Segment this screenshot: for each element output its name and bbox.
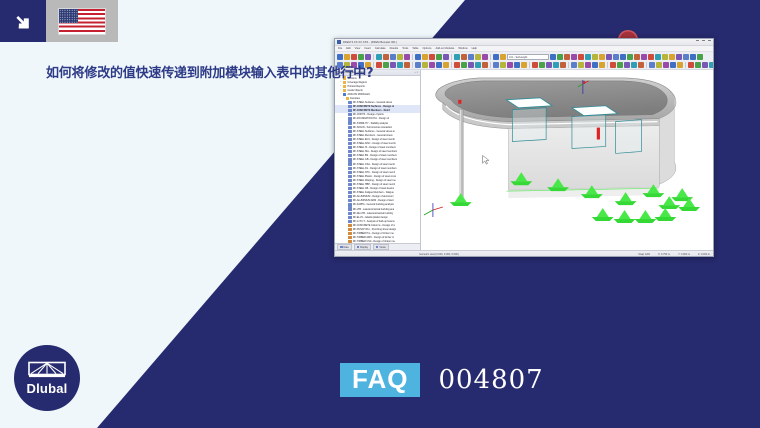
tree-item-label: RF-STEEL Fatigue Members - Fatigue bbox=[353, 191, 394, 194]
tree-twisty-icon[interactable] bbox=[345, 150, 348, 153]
tree-twisty-icon[interactable] bbox=[345, 224, 348, 227]
print-icon[interactable] bbox=[358, 54, 364, 60]
support-icon[interactable] bbox=[475, 62, 481, 68]
node-icon[interactable] bbox=[670, 62, 676, 68]
status-item: Snap CAD bbox=[638, 253, 650, 256]
menu-item-insert[interactable]: Insert bbox=[364, 47, 371, 50]
wireframe-icon[interactable] bbox=[599, 62, 605, 68]
tree-item[interactable]: RF-TIMBER CSA - Design of timber me bbox=[335, 240, 420, 243]
zoom-out-icon[interactable] bbox=[617, 62, 623, 68]
select-icon[interactable] bbox=[649, 62, 655, 68]
rotate-icon[interactable] bbox=[461, 54, 467, 60]
pan-icon[interactable] bbox=[631, 62, 637, 68]
tree-item-label: RF-CONCRETE Surfaces - Design of bbox=[353, 105, 394, 108]
dlubal-wordmark: Dlubal bbox=[27, 381, 68, 396]
open-icon[interactable] bbox=[521, 62, 527, 68]
copy-icon[interactable] bbox=[676, 54, 682, 60]
tree-item-icon bbox=[343, 85, 346, 88]
tree-twisty-icon[interactable] bbox=[345, 220, 348, 223]
status-item: Y: 3.900 m bbox=[678, 253, 690, 256]
toolbar-separator bbox=[451, 62, 452, 68]
tree-item-icon bbox=[348, 207, 351, 210]
tree-twisty-icon[interactable] bbox=[345, 155, 348, 158]
menu-item-help[interactable]: Help bbox=[472, 47, 477, 50]
copy-icon[interactable] bbox=[560, 62, 566, 68]
tree-item-label: RF-STEEL GB - Design of steel members bbox=[353, 158, 397, 161]
copy-icon[interactable] bbox=[571, 54, 577, 60]
tree-twisty-icon[interactable] bbox=[345, 208, 348, 211]
app-icon bbox=[337, 40, 341, 44]
status-left: Isometric view [0.000, 0.000, 0.000] bbox=[335, 253, 458, 256]
tree-item-label: RF-STEEL Warping - Design of steel me bbox=[353, 179, 396, 182]
tree-item-label: RF-STEEL Surfaces - General stress bbox=[353, 101, 392, 104]
tree-item-label: RF-STEEL CB - Design of steel beams bbox=[353, 187, 394, 190]
navigator-tab-display[interactable]: Display bbox=[354, 244, 371, 250]
surface-icon[interactable] bbox=[695, 62, 701, 68]
new-icon[interactable] bbox=[514, 62, 520, 68]
tree-item-icon bbox=[348, 224, 351, 227]
rotate-icon[interactable] bbox=[606, 54, 612, 60]
save-icon[interactable] bbox=[532, 62, 538, 68]
results-icon[interactable] bbox=[648, 54, 654, 60]
results-icon[interactable] bbox=[500, 62, 506, 68]
tree-twisty-icon[interactable] bbox=[345, 126, 348, 129]
tree-item-icon bbox=[343, 93, 346, 96]
tree-item-label: RF-ALUMINIUM - Design of aluminum bbox=[353, 195, 394, 198]
toolbar-separator bbox=[412, 62, 413, 68]
cut-icon[interactable] bbox=[553, 62, 559, 68]
wireframe-icon[interactable] bbox=[422, 54, 428, 60]
tree-twisty-icon[interactable]: + bbox=[340, 89, 343, 92]
tree-item-icon bbox=[348, 179, 351, 182]
views-tab-icon bbox=[376, 246, 379, 249]
zoom-fit-icon[interactable] bbox=[624, 62, 630, 68]
toolbar-separator bbox=[646, 62, 647, 68]
solid-icon[interactable] bbox=[468, 62, 474, 68]
tree-item-label: RF-STEEL CSA - Design of steel memb bbox=[353, 163, 395, 166]
tree-item-icon bbox=[348, 117, 351, 120]
tree-item-icon bbox=[348, 216, 351, 219]
close-icon[interactable] bbox=[708, 40, 711, 41]
tree-item-icon bbox=[348, 191, 351, 194]
tree-item-icon bbox=[343, 81, 346, 84]
tree-item-icon bbox=[348, 150, 351, 153]
tree-twisty-icon[interactable] bbox=[345, 196, 348, 199]
tree-twisty-icon[interactable] bbox=[345, 146, 348, 149]
window-body: Project Navigator - Data □ × +Sections+C… bbox=[335, 70, 713, 250]
new-icon[interactable] bbox=[655, 54, 661, 60]
tree-item-label: RF-STEEL BS - Design of steel members bbox=[353, 154, 397, 157]
tree-item-icon bbox=[348, 101, 351, 104]
data-tab-icon bbox=[340, 246, 343, 249]
redo-icon[interactable] bbox=[585, 62, 591, 68]
toolbar-separator bbox=[490, 62, 491, 68]
tree-twisty-icon[interactable] bbox=[345, 191, 348, 194]
menu-item-window[interactable]: Window bbox=[458, 47, 467, 50]
status-item: X: 0.750 m bbox=[658, 253, 670, 256]
member-icon[interactable] bbox=[627, 54, 633, 60]
minimize-icon[interactable] bbox=[696, 40, 699, 41]
tree-item-icon bbox=[348, 113, 351, 116]
select-icon[interactable] bbox=[415, 62, 421, 68]
tree-item-label: RF-SOILIN - Soil structure interaction bbox=[353, 126, 393, 129]
menu-item-results[interactable]: Results bbox=[390, 47, 399, 50]
faq-badge: FAQ bbox=[340, 363, 420, 397]
faq-identifier: FAQ 004807 bbox=[340, 363, 544, 397]
tree-item-label: RF-C-TO-T - Analysis of built-up beams bbox=[353, 220, 395, 223]
zoom-in-icon[interactable] bbox=[429, 54, 435, 60]
tree-twisty-icon[interactable] bbox=[345, 183, 348, 186]
tree-item-label: RF-LTB - Lateral-torsional buckling ana bbox=[353, 208, 395, 211]
pan-icon[interactable] bbox=[454, 54, 460, 60]
faq-number: 004807 bbox=[438, 365, 543, 395]
tree-item-icon bbox=[348, 199, 351, 202]
tree-twisty-icon[interactable] bbox=[345, 204, 348, 207]
model-viewport[interactable] bbox=[421, 70, 713, 250]
tree-twisty-icon[interactable] bbox=[345, 122, 348, 125]
load-case-combo[interactable]: LC1 - Self-weight bbox=[507, 54, 549, 60]
tree-item-label: RF-TIMBER CSA - Design of timber me bbox=[353, 240, 395, 243]
line-icon[interactable] bbox=[677, 62, 683, 68]
load-icon[interactable] bbox=[641, 54, 647, 60]
select-icon[interactable] bbox=[468, 54, 474, 60]
tree-twisty-icon[interactable] bbox=[345, 200, 348, 203]
tree-twisty-icon[interactable] bbox=[345, 171, 348, 174]
tree-twisty-icon[interactable] bbox=[345, 159, 348, 162]
tree-item-label: RF-FOUNDATION Pro - Design of bbox=[353, 117, 389, 120]
navigator-header-buttons[interactable]: □ × bbox=[414, 70, 420, 76]
tree-item-label: ADD-ON MODULES bbox=[347, 93, 369, 96]
menu-item-view[interactable]: View bbox=[355, 47, 361, 50]
menu-item-tools[interactable]: Tools bbox=[402, 47, 408, 50]
tree-item-label: RF-STEEL SIA - Design of steel members bbox=[353, 150, 398, 153]
render-icon[interactable] bbox=[415, 54, 421, 60]
menu-item-options[interactable]: Options bbox=[423, 47, 432, 50]
toolbar-separator bbox=[412, 54, 413, 60]
tree-twisty-icon[interactable] bbox=[345, 212, 348, 215]
undo-icon[interactable] bbox=[397, 54, 403, 60]
flag-button[interactable] bbox=[46, 0, 118, 42]
bridge-truss-icon bbox=[28, 361, 66, 380]
tree-twisty-icon[interactable] bbox=[345, 187, 348, 190]
us-flag-icon bbox=[58, 8, 106, 35]
print-preview-icon[interactable] bbox=[546, 62, 552, 68]
print-preview-icon[interactable] bbox=[669, 54, 675, 60]
page-title: 如何将修改的值快速传递到附加模块输入表中的其他行中? bbox=[46, 66, 336, 83]
tree-item-icon bbox=[348, 158, 351, 161]
new-icon[interactable] bbox=[337, 54, 343, 60]
zoom-in-icon[interactable] bbox=[376, 62, 382, 68]
zoom-in-icon[interactable] bbox=[697, 54, 703, 60]
navigator-tab-label: Views bbox=[379, 245, 385, 250]
line-icon[interactable] bbox=[443, 62, 449, 68]
tree-item-icon bbox=[346, 97, 349, 100]
tree-item-label: RF-JOINTS - Design of joints bbox=[353, 113, 384, 116]
tree-twisty-icon[interactable]: + bbox=[340, 81, 343, 84]
surface-icon[interactable] bbox=[461, 62, 467, 68]
print-icon[interactable] bbox=[539, 62, 545, 68]
tree-item-label: RF-STEEL Surfaces - General stress an bbox=[353, 130, 396, 133]
tree-item-icon bbox=[348, 171, 351, 174]
tree-item-icon bbox=[348, 236, 351, 239]
dlubal-logo[interactable]: Dlubal bbox=[14, 345, 80, 411]
tree-item-icon bbox=[348, 183, 351, 186]
snap-icon[interactable] bbox=[429, 62, 435, 68]
tree-item-icon bbox=[348, 232, 351, 235]
printout-icon[interactable] bbox=[507, 62, 513, 68]
tree-item-label: RF-STABILITY - Stability analysis bbox=[353, 122, 389, 125]
tree-item-label: RF-ALUMINIUM ADM - Design of alum bbox=[353, 199, 395, 202]
tree-item-label: RF-CONCRETE Columns - Design of re bbox=[353, 224, 396, 227]
toolbar-separator bbox=[607, 62, 608, 68]
load-icon[interactable] bbox=[482, 62, 488, 68]
node-icon[interactable] bbox=[620, 54, 626, 60]
tree-twisty-icon[interactable] bbox=[345, 130, 348, 133]
tree-item-label: RF-STEEL IS - Design of steel members bbox=[353, 146, 396, 149]
menu-item-file[interactable]: File bbox=[338, 47, 342, 50]
navigator-tabs[interactable]: DataDisplayViews bbox=[335, 243, 420, 250]
tree-item-label: Printout Reports bbox=[347, 85, 364, 88]
display-tab-icon bbox=[357, 246, 360, 249]
zoom-fit-icon[interactable] bbox=[443, 54, 449, 60]
render-icon[interactable] bbox=[585, 54, 591, 60]
tree-item-label: Favorites bbox=[350, 97, 360, 100]
tree-item-label: RF-STEEL Plastic - Design of steel cross bbox=[353, 175, 396, 178]
tree-item-icon bbox=[348, 195, 351, 198]
tree-twisty-icon[interactable] bbox=[345, 101, 348, 104]
member-icon[interactable] bbox=[454, 62, 460, 68]
arrow-down-right-button[interactable] bbox=[0, 0, 46, 42]
toolbar-separator bbox=[490, 54, 491, 60]
toolbar-separator bbox=[568, 62, 569, 68]
grid-icon[interactable] bbox=[656, 62, 662, 68]
solid-icon[interactable] bbox=[634, 54, 640, 60]
print-preview-icon[interactable] bbox=[365, 54, 371, 60]
tree-item-label: RF-EL-PL - Elastic-plastic design bbox=[353, 216, 388, 219]
tree-item-icon bbox=[348, 240, 351, 243]
zoom-out-icon[interactable] bbox=[383, 62, 389, 68]
tree-item-icon bbox=[348, 187, 351, 190]
tree-item-icon bbox=[348, 220, 351, 223]
slide-canvas: 如何将修改的值快速传递到附加模块输入表中的其他行中? Dlubal FAQ 00… bbox=[0, 0, 760, 428]
tree-item-label: RF-STEEL EC3 - Design of steel memb bbox=[353, 138, 395, 141]
navigator-tab-data[interactable]: Data bbox=[337, 244, 352, 250]
grid-icon[interactable] bbox=[475, 54, 481, 60]
tree-item-icon bbox=[348, 212, 351, 215]
tree-item-icon bbox=[348, 167, 351, 170]
grid-icon[interactable] bbox=[613, 54, 619, 60]
toolbar-separator bbox=[529, 62, 530, 68]
rfem-application-window[interactable]: RFEM 5.XX.XX.XXX - [RFEM Beispiel 001] F… bbox=[334, 38, 714, 257]
tree-item-icon bbox=[348, 142, 351, 145]
tree-item-icon bbox=[348, 134, 351, 137]
redo-icon[interactable] bbox=[404, 54, 410, 60]
render-icon[interactable] bbox=[592, 62, 598, 68]
tree-twisty-icon[interactable] bbox=[345, 163, 348, 166]
copy-icon[interactable] bbox=[383, 54, 389, 60]
tree-item-label: RF-STEEL NTC - Design of steel memb bbox=[353, 171, 395, 174]
navigator-tree[interactable]: +Sections+Coverage Regions+Printout Repo… bbox=[335, 76, 420, 243]
line-icon[interactable] bbox=[500, 54, 506, 60]
tree-item-label: RF-STEEL HBP - Design of steel memb bbox=[353, 183, 395, 186]
toolbar-separator bbox=[373, 54, 374, 60]
tree-item-label: RF-STEEL AISC - Design of steel memb bbox=[353, 142, 396, 145]
tree-twisty-icon[interactable] bbox=[345, 105, 348, 108]
pan-icon[interactable] bbox=[397, 62, 403, 68]
tree-twisty-icon[interactable] bbox=[345, 142, 348, 145]
tree-item-label: RF-CONCRETE Members - Reinf. bbox=[353, 109, 391, 112]
tree-twisty-icon[interactable] bbox=[345, 114, 348, 117]
tree-item-label: RF-FE-LTB - Lateral-torsional buckling bbox=[353, 212, 394, 215]
tree-item-icon bbox=[348, 203, 351, 206]
tree-twisty-icon[interactable] bbox=[345, 118, 348, 121]
tree-item-icon bbox=[348, 105, 351, 108]
new-icon[interactable] bbox=[550, 54, 556, 60]
node-icon[interactable] bbox=[436, 62, 442, 68]
tree-item-icon bbox=[348, 175, 351, 178]
window-controls[interactable] bbox=[696, 40, 711, 41]
save-icon[interactable] bbox=[662, 54, 668, 60]
tree-twisty-icon[interactable]: - bbox=[342, 97, 345, 100]
tree-item-icon bbox=[348, 130, 351, 133]
tree-item-icon bbox=[348, 121, 351, 124]
tree-item-icon bbox=[348, 146, 351, 149]
tree-item-icon bbox=[348, 154, 351, 157]
tree-twisty-icon[interactable] bbox=[345, 232, 348, 235]
rotate-icon[interactable] bbox=[638, 62, 644, 68]
save-icon[interactable] bbox=[351, 54, 357, 60]
snap-icon[interactable] bbox=[663, 62, 669, 68]
flag-canton bbox=[59, 9, 78, 24]
tree-item-icon bbox=[348, 162, 351, 165]
status-bar: Isometric view [0.000, 0.000, 0.000] Sna… bbox=[335, 250, 713, 257]
cut-icon[interactable] bbox=[376, 54, 382, 60]
rotate-icon[interactable] bbox=[404, 62, 410, 68]
paste-icon[interactable] bbox=[571, 62, 577, 68]
tree-twisty-icon[interactable] bbox=[345, 175, 348, 178]
menu-item-calculate[interactable]: Calculate bbox=[375, 47, 386, 50]
arrow-down-right-icon bbox=[13, 11, 33, 31]
tree-twisty-icon[interactable] bbox=[345, 236, 348, 239]
support-icon[interactable] bbox=[709, 62, 714, 68]
tree-twisty-icon[interactable]: + bbox=[340, 85, 343, 88]
solid-icon[interactable] bbox=[702, 62, 708, 68]
print-preview-icon[interactable] bbox=[564, 54, 570, 60]
tree-item-icon bbox=[343, 89, 346, 92]
tree-twisty-icon[interactable] bbox=[345, 110, 348, 113]
tree-item-icon bbox=[348, 138, 351, 141]
tree-item-label: Coverage Regions bbox=[347, 81, 367, 84]
tree-twisty-icon[interactable]: - bbox=[340, 93, 343, 96]
open-icon[interactable] bbox=[344, 54, 350, 60]
snap-icon[interactable] bbox=[482, 54, 488, 60]
menu-item-add-on-modules[interactable]: Add-on Modules bbox=[435, 47, 454, 50]
tree-twisty-icon[interactable] bbox=[345, 138, 348, 141]
tree-item-label: RF-STEEL Members - General stress bbox=[353, 134, 393, 137]
project-navigator-panel[interactable]: Project Navigator - Data □ × +Sections+C… bbox=[335, 70, 421, 250]
toolbar-separator bbox=[373, 62, 374, 68]
toolbar-separator bbox=[451, 54, 452, 60]
tree-item-label: RF-TIMBER Pro - Design of timber me bbox=[353, 232, 394, 235]
maximize-icon[interactable] bbox=[702, 40, 705, 41]
menu-item-table[interactable]: Table bbox=[412, 47, 418, 50]
tree-item-label: RF-STEEL AS - Design of steel members bbox=[353, 167, 397, 170]
node-icon[interactable] bbox=[493, 54, 499, 60]
undo-icon[interactable] bbox=[683, 54, 689, 60]
tree-twisty-icon[interactable] bbox=[345, 228, 348, 231]
tree-item-icon bbox=[348, 126, 351, 129]
global-axis-triad bbox=[424, 203, 443, 217]
calculate-icon[interactable] bbox=[493, 62, 499, 68]
undo-icon[interactable] bbox=[578, 62, 584, 68]
zoom-fit-icon[interactable] bbox=[390, 62, 396, 68]
tree-twisty-icon[interactable] bbox=[345, 241, 348, 243]
toolbar[interactable]: LC1 - Self-weight bbox=[335, 52, 713, 70]
tree-twisty-icon[interactable] bbox=[345, 134, 348, 137]
tree-item-label: RF-TIMBER AWC - Design of timber m bbox=[353, 236, 394, 239]
toolbar-row-1[interactable]: LC1 - Self-weight bbox=[337, 53, 711, 60]
navigator-tab-label: Data bbox=[344, 245, 349, 250]
grid-icon[interactable] bbox=[422, 62, 428, 68]
tree-twisty-icon[interactable] bbox=[345, 216, 348, 219]
tree-item-icon bbox=[348, 109, 351, 112]
tree-item-icon bbox=[348, 228, 351, 231]
zoom-in-icon[interactable] bbox=[610, 62, 616, 68]
tree-item-label: Guide Objects bbox=[347, 89, 362, 92]
status-item: Z: 0.000 m bbox=[698, 253, 710, 256]
undo-icon[interactable] bbox=[578, 54, 584, 60]
zoom-fit-icon[interactable] bbox=[599, 54, 605, 60]
language-bar bbox=[0, 0, 118, 42]
tree-item-label: RF-KAPPA - General buckling analysis bbox=[353, 203, 394, 206]
window-title: RFEM 5.XX.XX.XXX - [RFEM Beispiel 001] bbox=[343, 41, 397, 44]
toolbar-separator bbox=[685, 62, 686, 68]
render-icon[interactable] bbox=[690, 54, 696, 60]
tree-item-label: RF-PUNCH Pro - Punching shear design bbox=[353, 228, 397, 231]
menu-item-edit[interactable]: Edit bbox=[346, 47, 350, 50]
tree-twisty-icon[interactable] bbox=[345, 179, 348, 182]
save-icon[interactable] bbox=[557, 54, 563, 60]
toolbar-row-2[interactable] bbox=[337, 61, 711, 68]
tree-twisty-icon[interactable] bbox=[345, 167, 348, 170]
navigator-tab-label: Display bbox=[360, 245, 368, 250]
paste-icon[interactable] bbox=[390, 54, 396, 60]
zoom-in-icon[interactable] bbox=[592, 54, 598, 60]
member-icon[interactable] bbox=[688, 62, 694, 68]
window-titlebar[interactable]: RFEM 5.XX.XX.XXX - [RFEM Beispiel 001] bbox=[335, 39, 713, 46]
navigator-tab-views[interactable]: Views bbox=[373, 244, 389, 250]
zoom-out-icon[interactable] bbox=[436, 54, 442, 60]
model-3d-render bbox=[421, 70, 713, 249]
